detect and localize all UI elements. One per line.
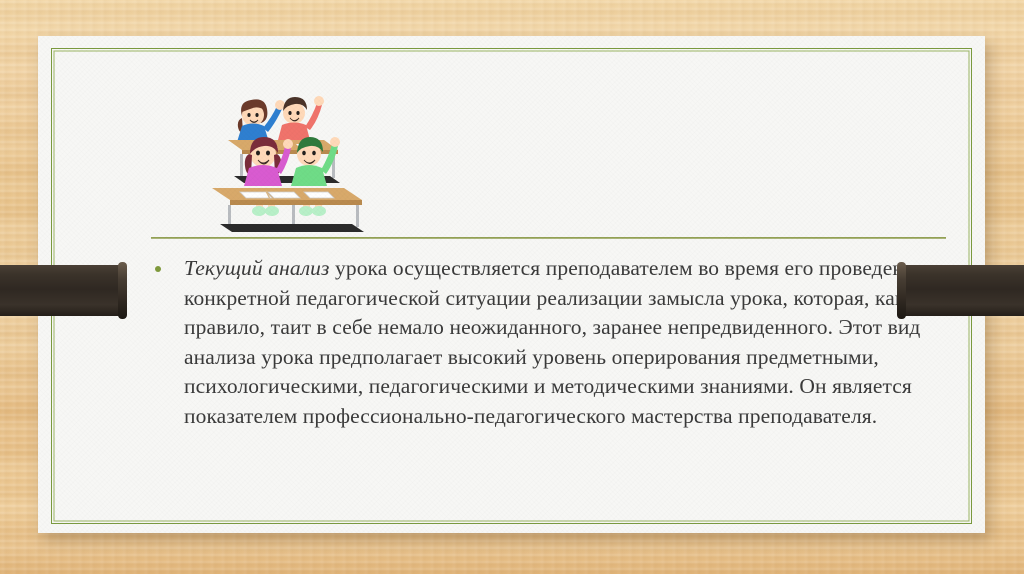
slide-card: Текущий анализ урока осуществляется преп…: [38, 36, 985, 533]
bullet-dot-icon: [155, 266, 161, 272]
student-back-left: [237, 99, 285, 142]
paragraph-body: урока осуществляется преподавателем во в…: [184, 256, 947, 428]
body-text-block: Текущий анализ урока осуществляется преп…: [151, 254, 951, 432]
right-dark-bar: [901, 265, 1024, 316]
paragraph-lead-term: Текущий анализ: [184, 256, 330, 280]
left-dark-bar: [0, 265, 123, 316]
bullet-list-item: Текущий анализ урока осуществляется преп…: [151, 254, 951, 432]
right-bar-cap: [897, 262, 906, 319]
left-bar-cap: [118, 262, 127, 319]
paragraph: Текущий анализ урока осуществляется преп…: [184, 254, 951, 432]
classroom-students-illustration: [206, 84, 366, 234]
desk-front: [212, 188, 364, 232]
slide-stage: Текущий анализ урока осуществляется преп…: [0, 0, 1024, 574]
student-back-right: [278, 96, 324, 140]
section-divider: [151, 237, 946, 239]
